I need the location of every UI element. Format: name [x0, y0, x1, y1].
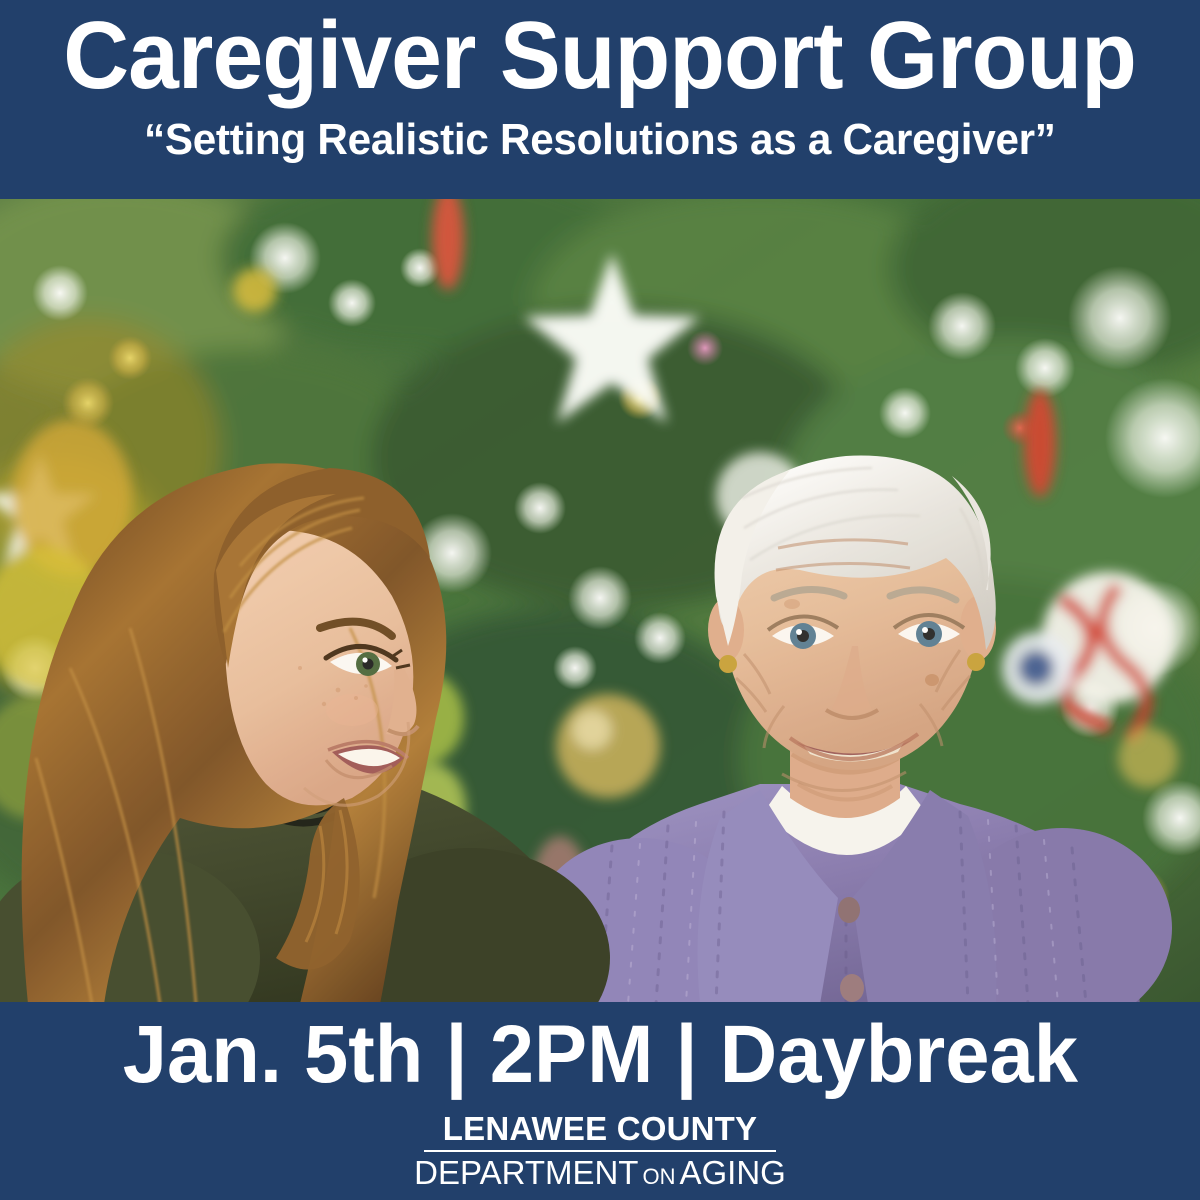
- logo-word-on: ON: [642, 1166, 675, 1188]
- photo-illustration: [0, 198, 1200, 1004]
- event-details: Jan. 5th | 2PM | Daybreak: [122, 1012, 1077, 1098]
- logo-line-department: DEPARTMENT ON AGING: [414, 1156, 786, 1189]
- page-subtitle: “Setting Realistic Resolutions as a Care…: [144, 116, 1056, 164]
- page-title: Caregiver Support Group: [64, 6, 1137, 106]
- lenawee-county-logo: LENAWEE COUNTY DEPARTMENT ON AGING: [424, 1112, 776, 1189]
- logo-line-county: LENAWEE COUNTY: [443, 1112, 757, 1145]
- footer-banner: Jan. 5th | 2PM | Daybreak LENAWEE COUNTY…: [0, 1002, 1200, 1200]
- logo-word-department: DEPARTMENT: [414, 1156, 638, 1189]
- logo-word-aging: AGING: [679, 1156, 785, 1189]
- logo-divider-rule: [424, 1150, 776, 1152]
- header-banner: Caregiver Support Group “Setting Realist…: [0, 0, 1200, 199]
- flyer-canvas: Caregiver Support Group “Setting Realist…: [0, 0, 1200, 1200]
- event-photo: [0, 198, 1200, 1004]
